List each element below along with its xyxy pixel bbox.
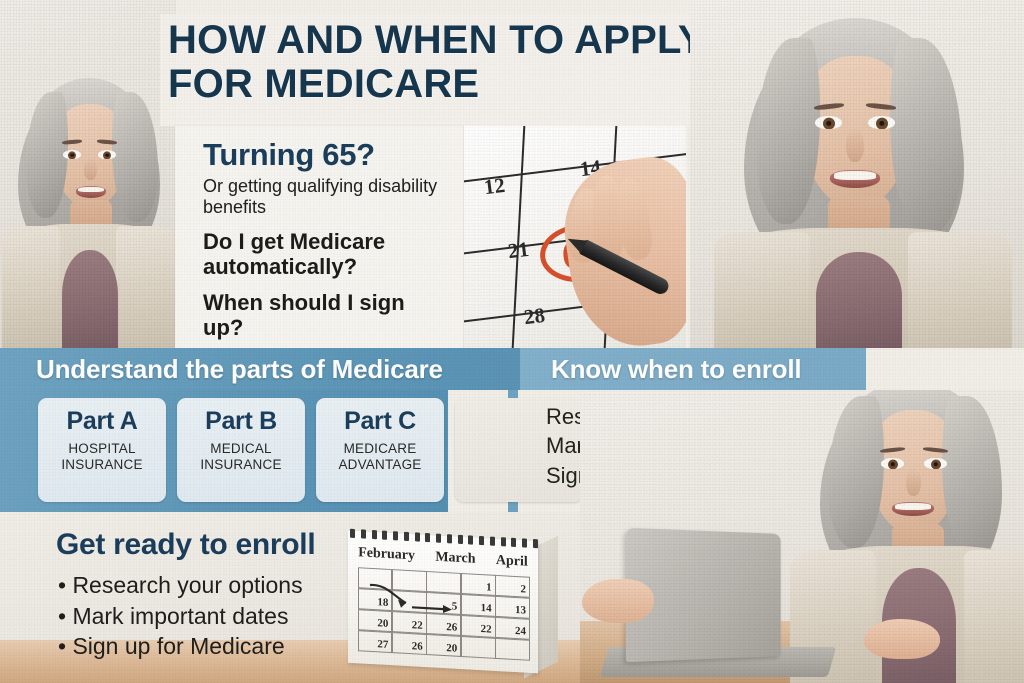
- dc-cell: [461, 635, 496, 658]
- part-card-c[interactable]: Part C MEDICARE ADVANTAGE: [316, 398, 444, 502]
- question-automatic-enrollment: Do I get Medicare automatically?: [203, 229, 449, 280]
- get-ready-list: • Research your options • Mark important…: [58, 570, 303, 662]
- question-when-sign-up: When should I sign up?: [203, 290, 449, 341]
- photo-woman-at-laptop: [580, 390, 1024, 683]
- desk-calendar: February March April 1 2 18 5 14 13 20 2…: [348, 528, 558, 673]
- dc-cell: 2: [495, 574, 530, 597]
- parts-band-heading: Understand the parts of Medicare: [36, 354, 443, 385]
- part-c-title: Part C: [344, 407, 416, 436]
- month-label-february: February: [358, 545, 415, 564]
- calendar-date-12: 12: [483, 173, 507, 200]
- turning-65-heading: Turning 65?: [203, 138, 449, 172]
- get-ready-item-2: • Mark important dates: [58, 601, 303, 632]
- get-ready-item-1: • Research your options: [58, 570, 303, 601]
- title-panel: HOW AND WHEN TO APPLY FOR MEDICARE: [160, 14, 720, 126]
- dc-cell: 27: [358, 630, 393, 653]
- photo-senior-woman-right: [690, 0, 1024, 348]
- dc-cell: 26: [392, 632, 427, 655]
- dc-cell: [495, 637, 530, 660]
- infographic-poster: HOW AND WHEN TO APPLY FOR MEDICARE Turni…: [0, 0, 1024, 683]
- calendar-sheet: 12 14 21 28 65: [464, 126, 686, 348]
- dc-cell: 13: [495, 595, 530, 618]
- photo-senior-woman-left: [0, 0, 176, 348]
- photo-calendar-marking-65: 12 14 21 28 65: [464, 126, 686, 348]
- dc-cell: 24: [495, 616, 530, 639]
- medicare-parts-cards: Part A HOSPITAL INSURANCE Part B MEDICAL…: [38, 398, 583, 502]
- part-b-title: Part B: [205, 407, 277, 436]
- page-title: HOW AND WHEN TO APPLY FOR MEDICARE: [160, 14, 720, 106]
- typing-hand: [864, 619, 940, 659]
- part-a-subtitle: HOSPITAL INSURANCE: [38, 441, 166, 474]
- get-ready-heading: Get ready to enroll: [56, 528, 315, 562]
- part-c-subtitle: MEDICARE ADVANTAGE: [316, 441, 444, 474]
- get-ready-item-3: • Sign up for Medicare: [58, 631, 303, 662]
- qualifying-disability-subtext: Or getting qualifying disability benefit…: [203, 176, 449, 218]
- calendar-date-28: 28: [523, 303, 547, 330]
- enroll-band-heading: Know when to enroll: [551, 354, 801, 385]
- calendar-date-21: 21: [507, 237, 531, 264]
- part-card-b[interactable]: Part B MEDICAL INSURANCE: [177, 398, 305, 502]
- part-a-title: Part A: [67, 407, 138, 436]
- dc-cell: 20: [426, 634, 461, 657]
- month-label-march: March: [435, 550, 475, 568]
- part-card-a[interactable]: Part A HOSPITAL INSURANCE: [38, 398, 166, 502]
- date-arrow-annotation: [364, 581, 484, 624]
- pointing-hand: [582, 579, 654, 623]
- question-card: Turning 65? Or getting qualifying disabi…: [175, 126, 463, 348]
- part-b-subtitle: MEDICAL INSURANCE: [177, 441, 305, 474]
- month-label-april: April: [496, 553, 528, 571]
